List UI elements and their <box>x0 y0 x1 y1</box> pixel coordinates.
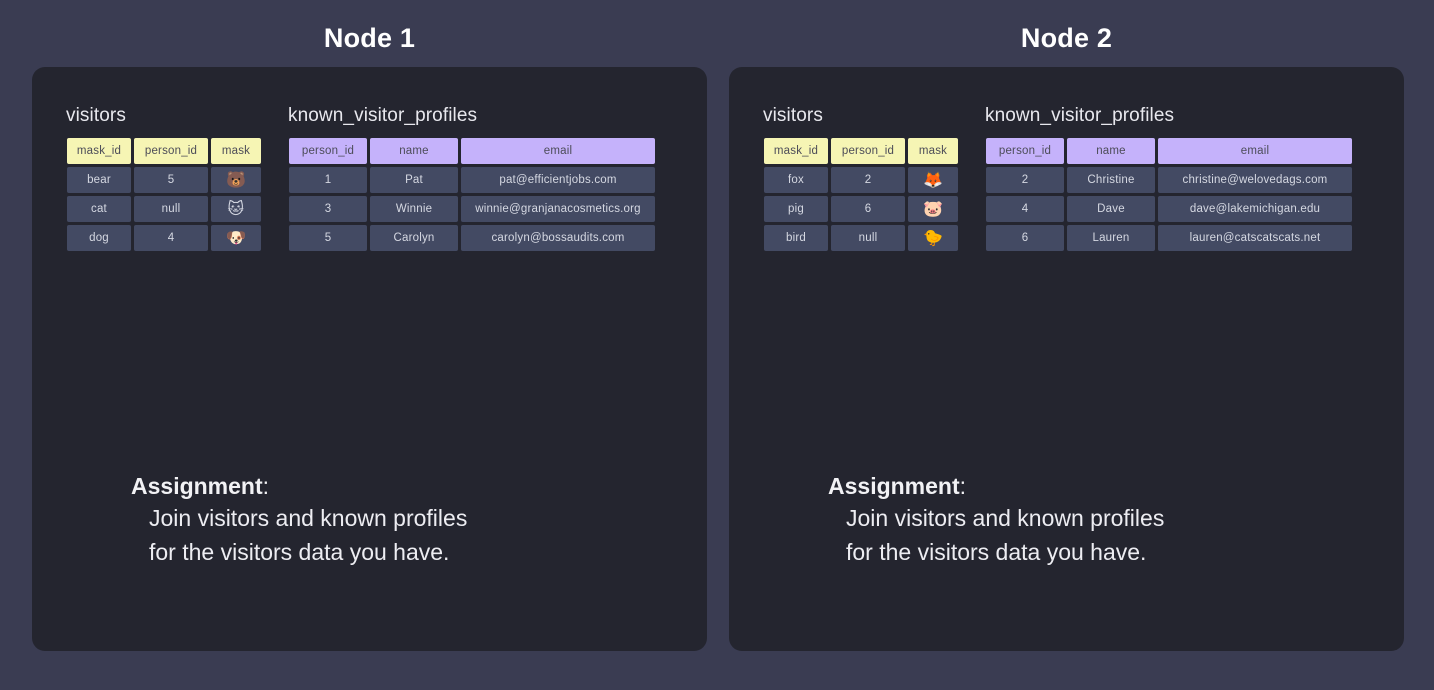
assignment-colon: : <box>263 473 269 499</box>
tables-area: visitors mask_id person_id mask <box>32 67 707 297</box>
table-header-row: person_id name email <box>986 138 1352 164</box>
column-header-person-id: person_id <box>831 138 905 164</box>
cell-email: dave@lakemichigan.edu <box>1158 196 1352 222</box>
cell-mask-id: bird <box>764 225 828 251</box>
cell-name: Dave <box>1067 196 1155 222</box>
assignment-body: Join visitors and known profiles for the… <box>846 501 1348 569</box>
column-header-mask-id: mask_id <box>764 138 828 164</box>
table-row: cat null 🐱 <box>67 196 261 222</box>
cell-email: carolyn@bossaudits.com <box>461 225 655 251</box>
assignment-colon: : <box>960 473 966 499</box>
cell-email: pat@efficientjobs.com <box>461 167 655 193</box>
assignment-heading: Assignment: <box>828 471 1348 501</box>
table-block-known-visitor-profiles: known_visitor_profiles person_id name em… <box>286 105 658 254</box>
cell-mask-id: cat <box>67 196 131 222</box>
cell-person-id: 2 <box>986 167 1064 193</box>
table-row: 4 Dave dave@lakemichigan.edu <box>986 196 1352 222</box>
column-header-mask-id: mask_id <box>67 138 131 164</box>
cell-person-id: 6 <box>986 225 1064 251</box>
cell-name: Christine <box>1067 167 1155 193</box>
assignment-line: for the visitors data you have. <box>149 535 651 569</box>
node-title: Node 1 <box>32 20 707 56</box>
cat-face-icon: 🐱 <box>211 196 261 222</box>
column-header-person-id: person_id <box>134 138 208 164</box>
table-header-row: mask_id person_id mask <box>67 138 261 164</box>
table-row: fox 2 🦊 <box>764 167 958 193</box>
table-header-row: mask_id person_id mask <box>764 138 958 164</box>
cell-mask-id: pig <box>764 196 828 222</box>
assignment-body: Join visitors and known profiles for the… <box>149 501 651 569</box>
assignment-block: Assignment: Join visitors and known prof… <box>828 471 1348 569</box>
table-caption: known_visitor_profiles <box>985 105 1355 127</box>
node-column-1: Node 1 visitors mask_id person_id mask <box>32 0 707 56</box>
assignment-line: Join visitors and known profiles <box>149 501 651 535</box>
table-row: 6 Lauren lauren@catscatscats.net <box>986 225 1352 251</box>
cell-person-id: 6 <box>831 196 905 222</box>
cell-person-id: null <box>134 196 208 222</box>
cell-person-id: 2 <box>831 167 905 193</box>
cell-person-id: null <box>831 225 905 251</box>
column-header-mask: mask <box>211 138 261 164</box>
table-row: 2 Christine christine@welovedags.com <box>986 167 1352 193</box>
table-block-visitors: visitors mask_id person_id mask <box>761 105 961 254</box>
tables-area: visitors mask_id person_id mask <box>729 67 1404 297</box>
cell-mask-id: fox <box>764 167 828 193</box>
cell-person-id: 4 <box>134 225 208 251</box>
cell-name: Pat <box>370 167 458 193</box>
column-header-person-id: person_id <box>986 138 1064 164</box>
cell-email: winnie@granjanacosmetics.org <box>461 196 655 222</box>
table-caption: visitors <box>66 105 264 127</box>
table-header-row: person_id name email <box>289 138 655 164</box>
table-caption: visitors <box>763 105 961 127</box>
bear-face-icon: 🐻 <box>211 167 261 193</box>
cell-name: Lauren <box>1067 225 1155 251</box>
cell-person-id: 3 <box>289 196 367 222</box>
pig-face-icon: 🐷 <box>908 196 958 222</box>
table-caption: known_visitor_profiles <box>288 105 658 127</box>
table-row: pig 6 🐷 <box>764 196 958 222</box>
cell-name: Carolyn <box>370 225 458 251</box>
cell-person-id: 5 <box>289 225 367 251</box>
node-title: Node 2 <box>729 20 1404 56</box>
cell-person-id: 1 <box>289 167 367 193</box>
column-header-person-id: person_id <box>289 138 367 164</box>
column-header-name: name <box>370 138 458 164</box>
known-visitor-profiles-table: person_id name email 2 Christine christi… <box>983 135 1355 254</box>
assignment-label: Assignment <box>828 473 960 499</box>
cell-email: christine@welovedags.com <box>1158 167 1352 193</box>
column-header-mask: mask <box>908 138 958 164</box>
assignment-line: for the visitors data you have. <box>846 535 1348 569</box>
table-row: 1 Pat pat@efficientjobs.com <box>289 167 655 193</box>
nodes-board: Node 1 visitors mask_id person_id mask <box>0 0 1434 690</box>
cell-email: lauren@catscatscats.net <box>1158 225 1352 251</box>
column-header-name: name <box>1067 138 1155 164</box>
table-row: bird null 🐤 <box>764 225 958 251</box>
cell-mask-id: dog <box>67 225 131 251</box>
table-row: 5 Carolyn carolyn@bossaudits.com <box>289 225 655 251</box>
assignment-block: Assignment: Join visitors and known prof… <box>131 471 651 569</box>
column-header-email: email <box>461 138 655 164</box>
column-header-email: email <box>1158 138 1352 164</box>
cell-name: Winnie <box>370 196 458 222</box>
node-card: visitors mask_id person_id mask <box>32 67 707 651</box>
table-block-known-visitor-profiles: known_visitor_profiles person_id name em… <box>983 105 1355 254</box>
assignment-line: Join visitors and known profiles <box>846 501 1348 535</box>
node-column-2: Node 2 visitors mask_id person_id mask <box>729 0 1404 56</box>
fox-face-icon: 🦊 <box>908 167 958 193</box>
dog-face-icon: 🐶 <box>211 225 261 251</box>
cell-mask-id: bear <box>67 167 131 193</box>
assignment-label: Assignment <box>131 473 263 499</box>
table-block-visitors: visitors mask_id person_id mask <box>64 105 264 254</box>
visitors-table: mask_id person_id mask bear 5 🐻 <box>64 135 264 254</box>
assignment-heading: Assignment: <box>131 471 651 501</box>
known-visitor-profiles-table: person_id name email 1 Pat pat@efficient… <box>286 135 658 254</box>
table-row: bear 5 🐻 <box>67 167 261 193</box>
node-card: visitors mask_id person_id mask <box>729 67 1404 651</box>
visitors-table: mask_id person_id mask fox 2 🦊 <box>761 135 961 254</box>
cell-person-id: 4 <box>986 196 1064 222</box>
table-row: 3 Winnie winnie@granjanacosmetics.org <box>289 196 655 222</box>
table-row: dog 4 🐶 <box>67 225 261 251</box>
cell-person-id: 5 <box>134 167 208 193</box>
baby-chick-icon: 🐤 <box>908 225 958 251</box>
